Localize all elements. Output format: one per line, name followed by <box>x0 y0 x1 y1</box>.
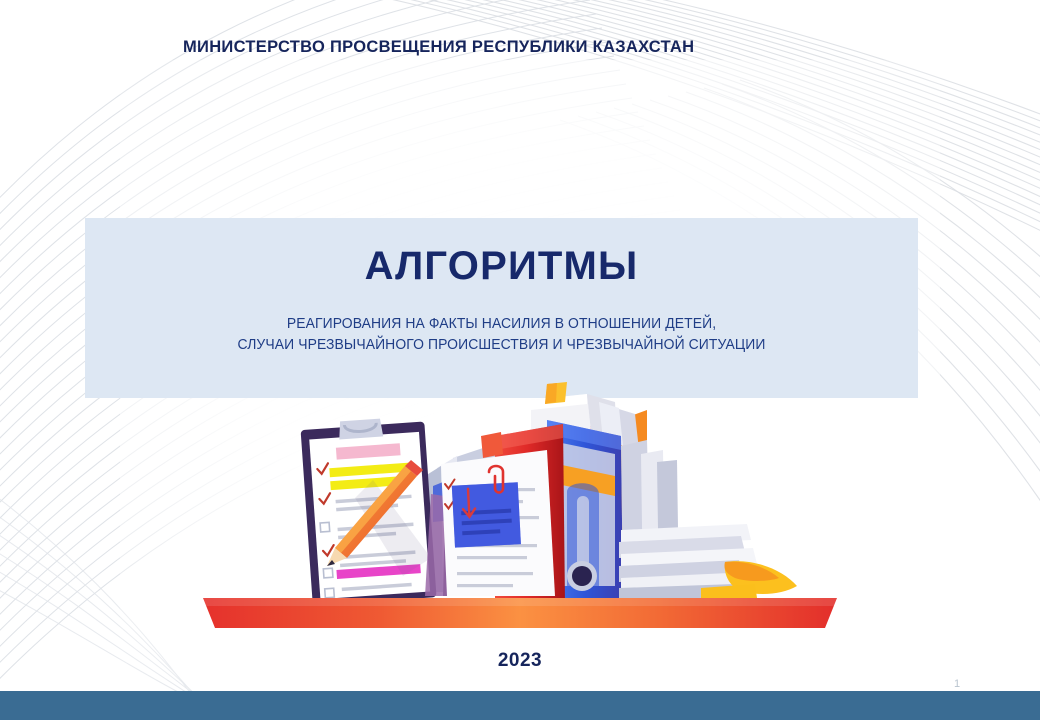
yellow-tab-top <box>545 382 567 404</box>
subtitle: РЕАГИРОВАНИЯ НА ФАКТЫ НАСИЛИЯ В ОТНОШЕНИ… <box>102 288 902 356</box>
footer-bar <box>0 691 1040 720</box>
title-panel: АЛГОРИТМЫ РЕАГИРОВАНИЯ НА ФАКТЫ НАСИЛИЯ … <box>85 218 918 398</box>
blue-sticky-note <box>452 482 521 547</box>
subtitle-line-1: РЕАГИРОВАНИЯ НА ФАКТЫ НАСИЛИЯ В ОТНОШЕНИ… <box>102 314 902 335</box>
presentation-slide: МИНИСТЕРСТВО ПРОСВЕЩЕНИЯ РЕСПУБЛИКИ КАЗА… <box>0 0 1040 720</box>
page-title: АЛГОРИТМЫ <box>85 218 918 288</box>
organization-header: МИНИСТЕРСТВО ПРОСВЕЩЕНИЯ РЕСПУБЛИКИ КАЗА… <box>183 38 694 57</box>
office-documents-illustration <box>195 380 845 645</box>
red-orange-shelf <box>203 598 837 628</box>
year-label: 2023 <box>0 650 1040 672</box>
page-number: 1 <box>945 678 969 690</box>
subtitle-line-2: СЛУЧАИ ЧРЕЗВЫЧАЙНОГО ПРОИСШЕСТВИЯ И ЧРЕЗ… <box>102 335 902 356</box>
